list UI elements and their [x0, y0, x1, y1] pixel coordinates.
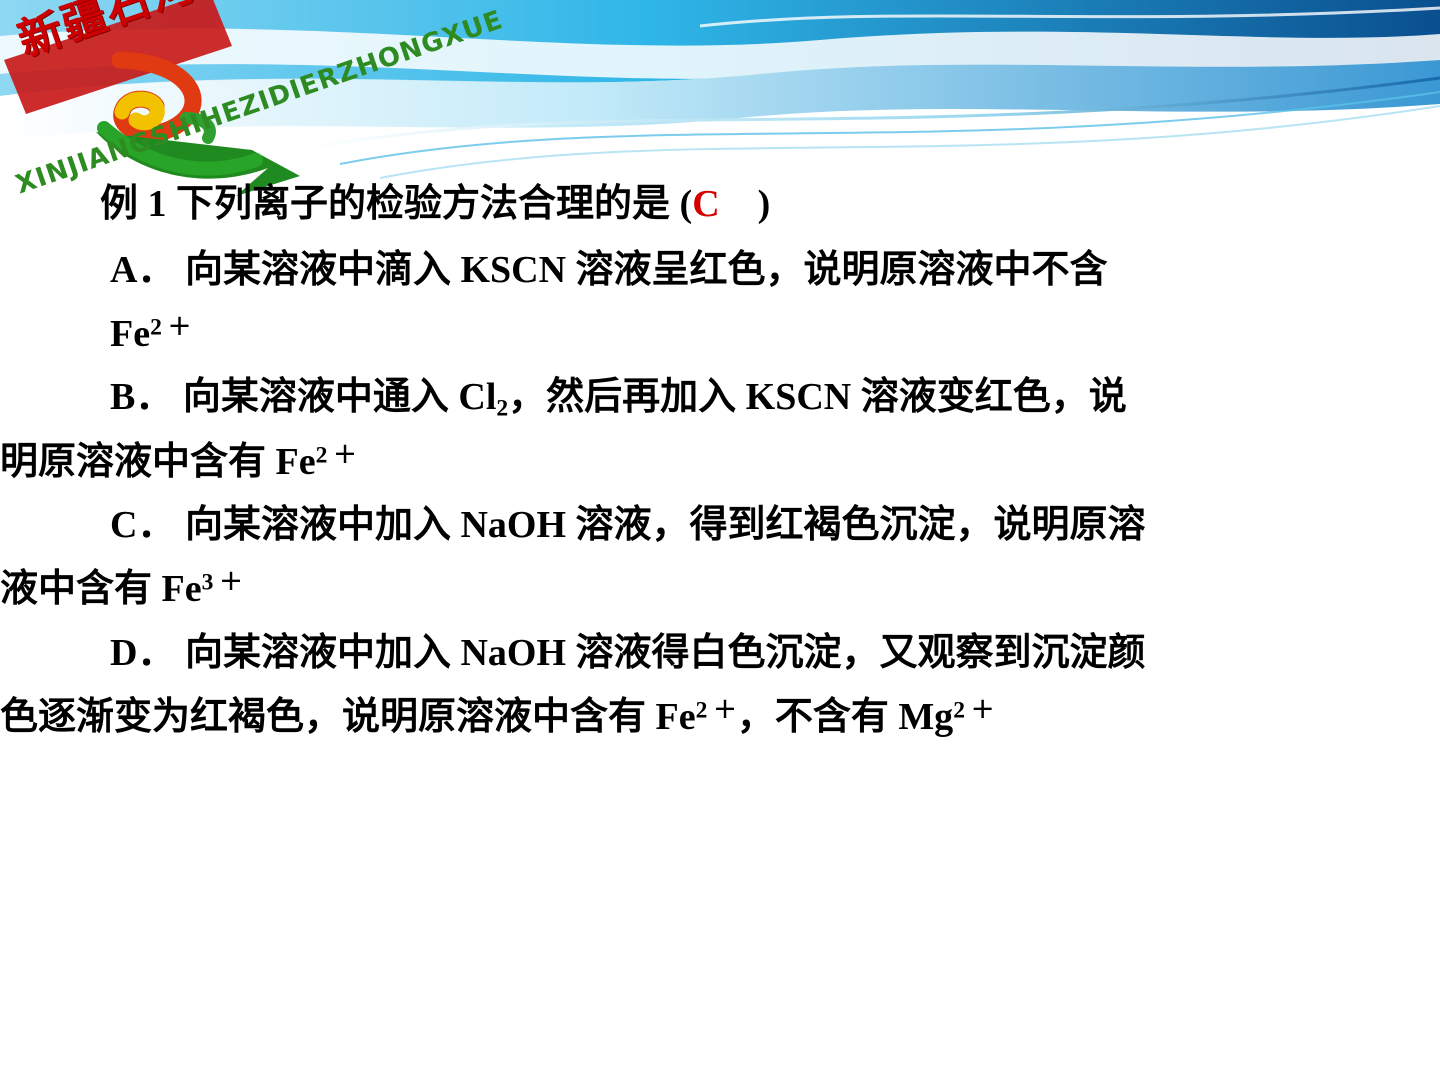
- option-b-line1: B． 向某溶液中通入 Cl2，然后再加入 KSCN 溶液变红色，说: [0, 369, 1440, 427]
- option-b-formula-base: 明原溶液中含有 Fe: [0, 441, 316, 483]
- question-text: 下列离子的检验方法合理的是: [176, 183, 670, 225]
- option-c-dot: ．: [137, 504, 175, 546]
- option-c-formula-base: 液中含有 Fe: [0, 568, 202, 610]
- option-b-formula-charge: 2 ＋: [316, 442, 357, 468]
- option-d-charge-2: 2 ＋: [953, 697, 994, 723]
- option-b-line2: 明原溶液中含有 Fe2 ＋: [0, 434, 1440, 492]
- question-line: 例 1 下列离子的检验方法合理的是 (C ): [0, 176, 1440, 234]
- option-b-text-a: 向某溶液中通入 Cl: [183, 376, 497, 418]
- slide-content: 例 1 下列离子的检验方法合理的是 (C ) A． 向某溶液中滴入 KSCN 溶…: [0, 176, 1440, 752]
- option-b-subscript: 2: [496, 396, 508, 422]
- answer-close-paren: ): [758, 183, 771, 225]
- option-c-line1: C． 向某溶液中加入 NaOH 溶液，得到红褐色沉淀，说明原溶: [0, 497, 1440, 555]
- option-b-tag: B: [110, 376, 135, 418]
- option-a-line1: A． 向某溶液中滴入 KSCN 溶液呈红色，说明原溶液中不含: [0, 242, 1440, 300]
- option-b-text-b: ，然后再加入 KSCN 溶液变红色，说: [508, 376, 1127, 418]
- header-wave-graphic: [0, 0, 1440, 200]
- option-a-formula-base: Fe: [110, 313, 150, 355]
- option-d-text-b: ，不含有 Mg: [737, 696, 953, 738]
- option-b-dot: ．: [135, 376, 173, 418]
- option-a-formula-charge: 2 ＋: [150, 314, 191, 340]
- option-c-tag: C: [110, 504, 137, 546]
- option-c-formula-charge: 3 ＋: [202, 570, 243, 596]
- answer-letter: C: [692, 183, 719, 225]
- option-a-line2: Fe2 ＋: [0, 306, 1440, 364]
- option-d-charge-1: 2 ＋: [696, 697, 737, 723]
- option-d-dot: ．: [137, 632, 175, 674]
- option-a-dot: ．: [137, 249, 175, 291]
- question-label: 例 1: [100, 183, 167, 225]
- option-c-text: 向某溶液中加入 NaOH 溶液，得到红褐色沉淀，说明原溶: [185, 504, 1146, 546]
- answer-open-paren: (: [680, 183, 693, 225]
- option-d-line2: 色逐渐变为红褐色，说明原溶液中含有 Fe2 ＋，不含有 Mg2 ＋: [0, 689, 1440, 747]
- option-a-text: 向某溶液中滴入 KSCN 溶液呈红色，说明原溶液中不含: [185, 249, 1108, 291]
- header-decoration: [0, 0, 1440, 200]
- option-d-text-a: 色逐渐变为红褐色，说明原溶液中含有 Fe: [0, 696, 696, 738]
- option-a-tag: A: [110, 249, 137, 291]
- option-c-line2: 液中含有 Fe3 ＋: [0, 561, 1440, 619]
- option-d-text: 向某溶液中加入 NaOH 溶液得白色沉淀，又观察到沉淀颜: [185, 632, 1146, 674]
- option-d-line1: D． 向某溶液中加入 NaOH 溶液得白色沉淀，又观察到沉淀颜: [0, 625, 1440, 683]
- option-d-tag: D: [110, 632, 137, 674]
